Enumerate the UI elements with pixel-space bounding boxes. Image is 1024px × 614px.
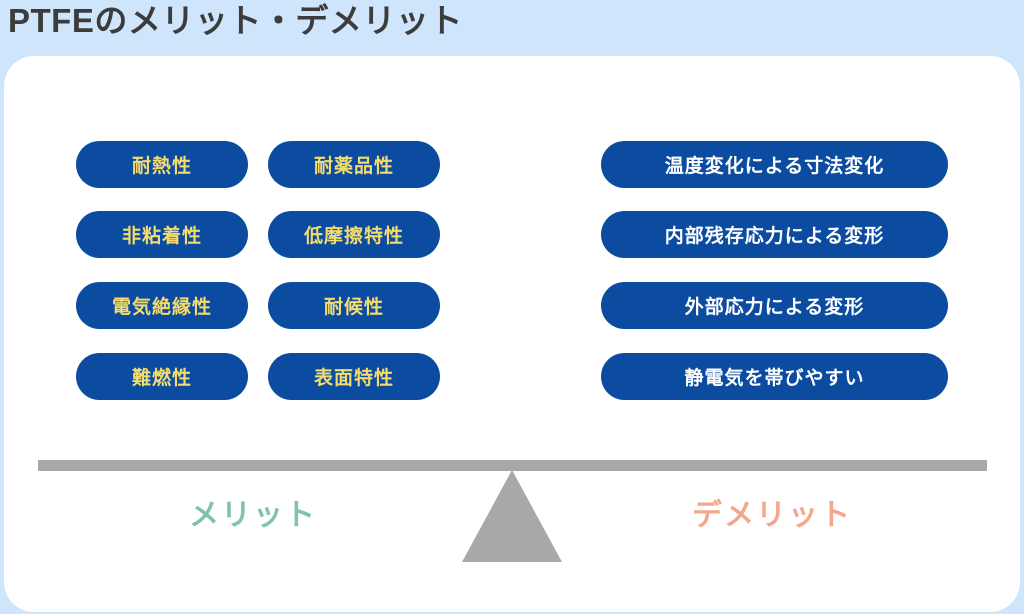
demerit-pill[interactable]: 外部応力による変形 — [601, 282, 948, 329]
demerit-side-label: デメリット — [692, 498, 852, 534]
seesaw-fulcrum-triangle-icon — [462, 470, 562, 562]
merit-pill[interactable]: 難燃性 — [76, 353, 248, 400]
demerit-pill[interactable]: 内部残存応力による変形 — [601, 211, 948, 258]
merit-pill[interactable]: 表面特性 — [268, 353, 440, 400]
demerit-pill[interactable]: 温度変化による寸法変化 — [601, 141, 948, 188]
merit-pill[interactable]: 電気絶縁性 — [76, 282, 248, 329]
merit-pill[interactable]: 耐熱性 — [76, 141, 248, 188]
page-header: PTFEのメリット・デメリット — [0, 0, 1024, 58]
content-card: 耐熱性 非粘着性 電気絶縁性 難燃性 耐薬品性 低摩擦特性 耐候性 表面特性 温… — [4, 56, 1020, 612]
demerit-pill[interactable]: 静電気を帯びやすい — [601, 353, 948, 400]
page-title: PTFEのメリット・デメリット — [8, 1, 463, 41]
merit-pill[interactable]: 低摩擦特性 — [268, 211, 440, 258]
merit-side-label: メリット — [189, 498, 317, 534]
merit-pill[interactable]: 耐候性 — [268, 282, 440, 329]
merit-pill[interactable]: 耐薬品性 — [268, 141, 440, 188]
merit-pill[interactable]: 非粘着性 — [76, 211, 248, 258]
